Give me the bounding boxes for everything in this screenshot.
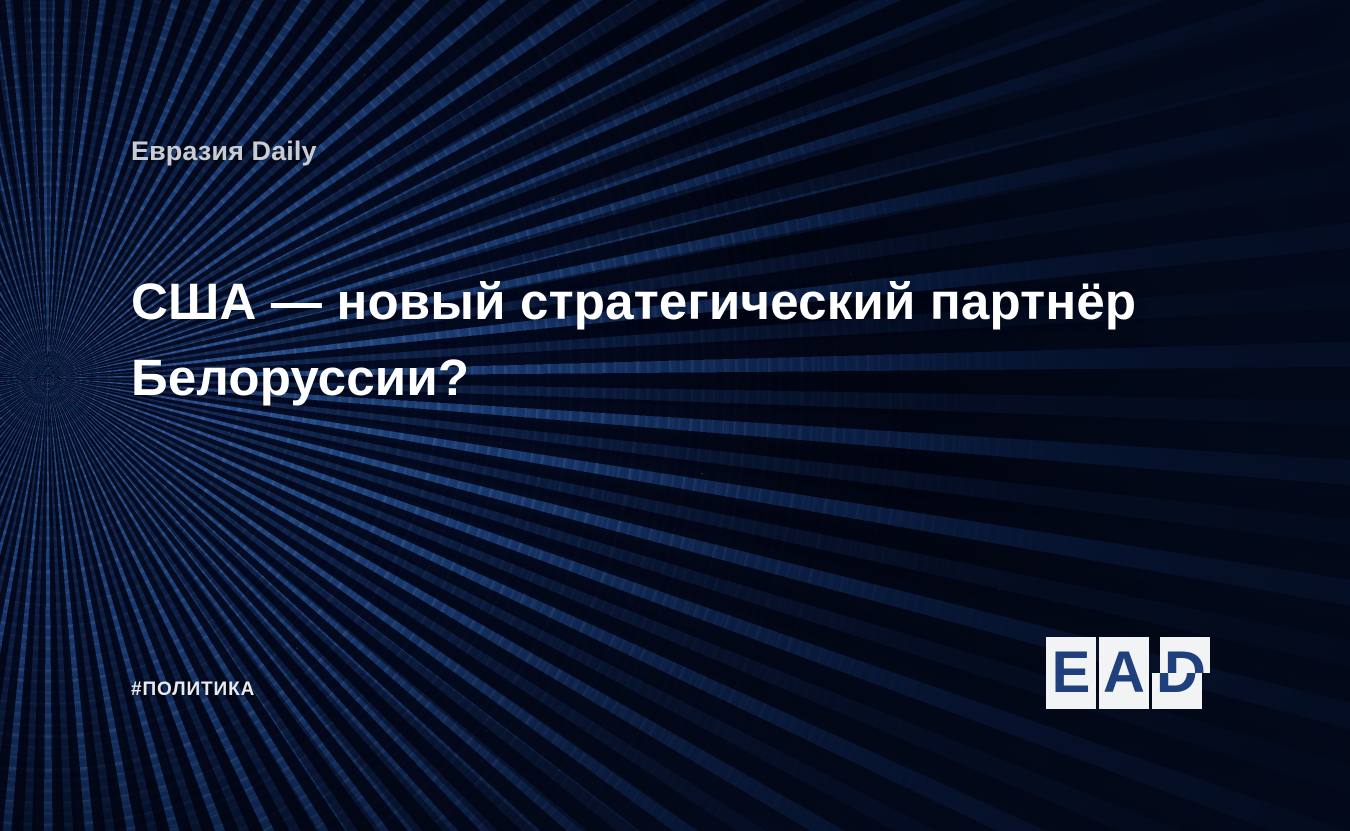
logo-letter-e: E: [1052, 644, 1091, 702]
card-content: Евразия Daily США — новый стратегический…: [0, 0, 1350, 831]
logo-letter-d-top-half: D: [1160, 637, 1210, 673]
article-cover-card: Евразия Daily США — новый стратегический…: [0, 0, 1350, 831]
logo-tile-a: A: [1099, 637, 1149, 709]
logo-letter-d-top-glyph: D: [1164, 637, 1206, 673]
logo-tile-e: E: [1046, 637, 1096, 709]
category-hashtag: #ПОЛИТИКА: [131, 679, 255, 701]
logo-letter-d-bottom-glyph: D: [1156, 673, 1198, 709]
logo-tile-d: D D: [1152, 637, 1202, 709]
logo-letter-a: A: [1103, 644, 1145, 702]
brand-wordmark: Евразия Daily: [131, 136, 317, 167]
ead-logo: E A D D: [1046, 637, 1202, 709]
logo-letter-d-bottom-half: D: [1152, 673, 1202, 709]
page-title: США — новый стратегический партнёр Белор…: [131, 264, 1201, 416]
